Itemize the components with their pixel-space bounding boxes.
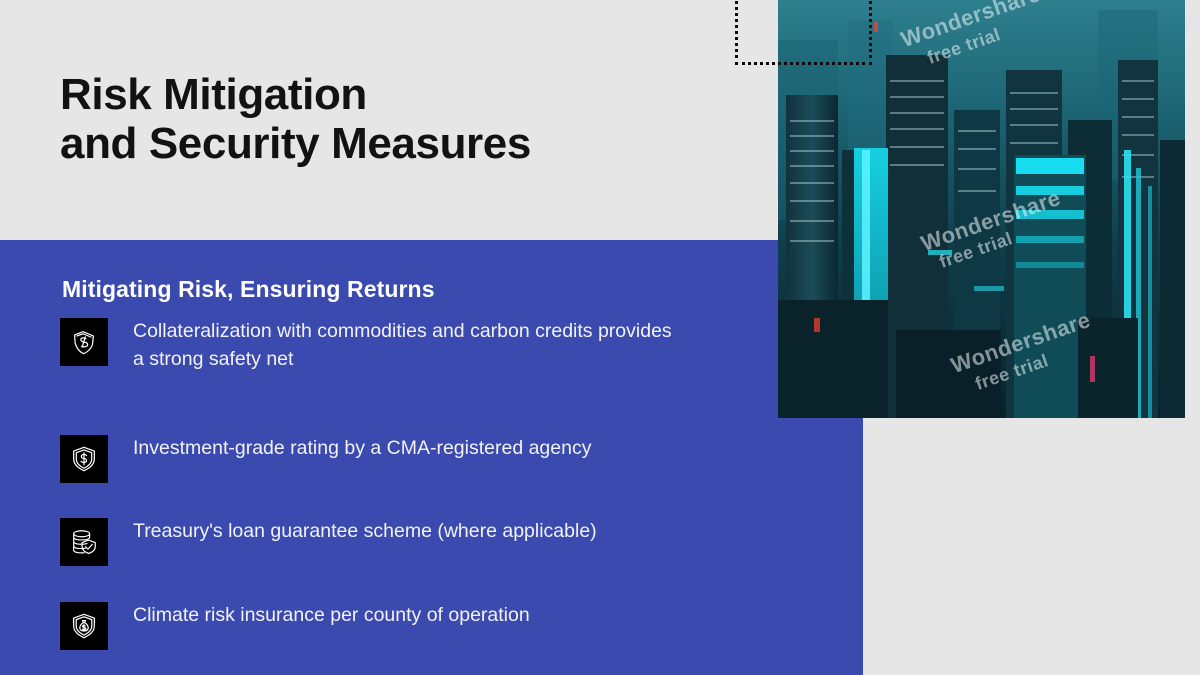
shield-dollar-badge-icon <box>60 435 108 483</box>
list-item: Climate risk insurance per county of ope… <box>60 602 530 650</box>
list-item-label: Investment-grade rating by a CMA-registe… <box>133 435 591 463</box>
section-subtitle: Mitigating Risk, Ensuring Returns <box>62 276 435 303</box>
list-item: Treasury's loan guarantee scheme (where … <box>60 518 597 566</box>
slide-canvas: Wondershare free trial Wondershare free … <box>0 0 1200 675</box>
shield-money-bag-icon <box>60 602 108 650</box>
page-title: Risk Mitigation and Security Measures <box>60 70 720 169</box>
dotted-square-outline <box>735 0 872 65</box>
list-item-label: Collateralization with commodities and c… <box>133 318 673 373</box>
list-item: Investment-grade rating by a CMA-registe… <box>60 435 591 483</box>
title-line-2: and Security Measures <box>60 119 720 168</box>
title-line-1: Risk Mitigation <box>60 70 720 119</box>
list-item: Collateralization with commodities and c… <box>60 318 673 373</box>
coins-shield-check-icon <box>60 518 108 566</box>
shield-dollar-icon <box>60 318 108 366</box>
list-item-label: Treasury's loan guarantee scheme (where … <box>133 518 597 546</box>
list-item-label: Climate risk insurance per county of ope… <box>133 602 530 630</box>
